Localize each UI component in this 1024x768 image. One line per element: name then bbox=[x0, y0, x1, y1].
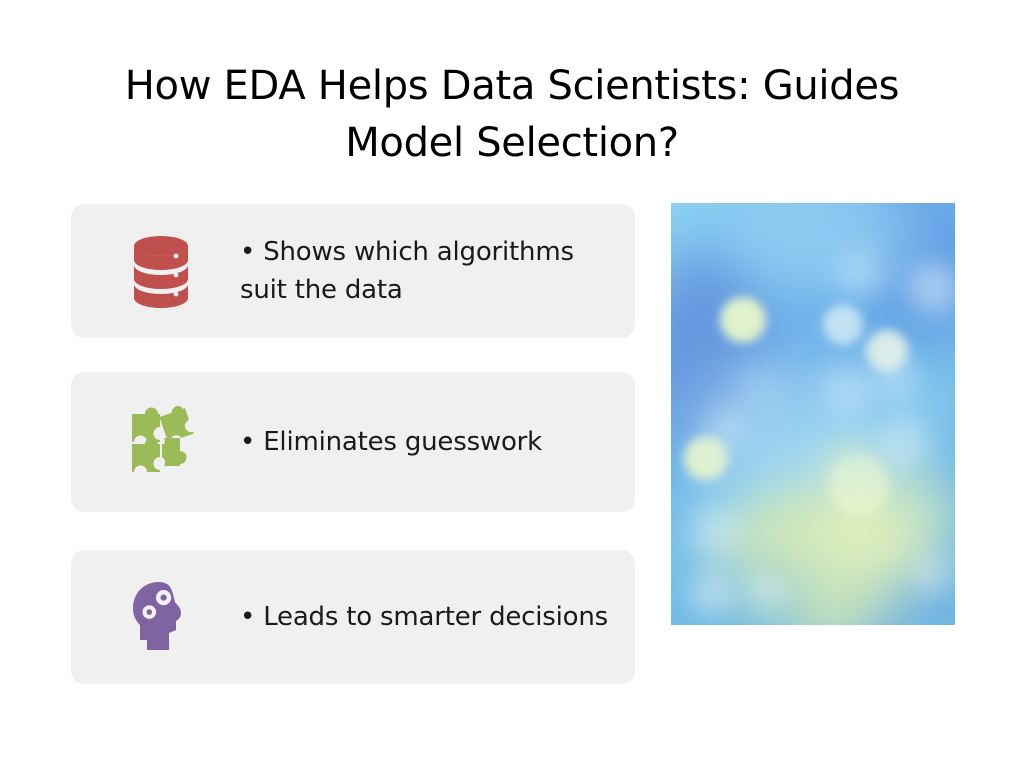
bullet-card[interactable]: • Shows which algorithms suit the data bbox=[71, 204, 635, 338]
bullet-card-text: • Eliminates guesswork bbox=[240, 423, 635, 461]
bullet-card-text: • Shows which algorithms suit the data bbox=[240, 233, 635, 309]
bullet-card-list: • Shows which algorithms suit the data bbox=[71, 204, 635, 684]
head-with-gears-icon bbox=[109, 580, 213, 654]
blue-bokeh-photo bbox=[671, 203, 955, 625]
bullet-card[interactable]: • Leads to smarter decisions bbox=[71, 550, 635, 684]
page-title: How EDA Helps Data Scientists: Guides Mo… bbox=[112, 58, 912, 172]
bullet-card[interactable]: • Eliminates guesswork bbox=[71, 372, 635, 512]
puzzle-pieces-icon bbox=[109, 406, 213, 478]
database-icon bbox=[109, 234, 213, 308]
slide: How EDA Helps Data Scientists: Guides Mo… bbox=[0, 0, 1024, 768]
bullet-card-text: • Leads to smarter decisions bbox=[240, 598, 635, 636]
